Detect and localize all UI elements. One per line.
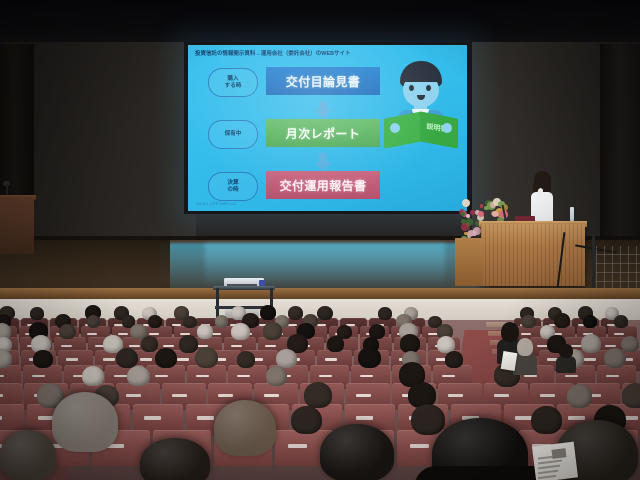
audience-head [583, 315, 597, 327]
audience-head [291, 406, 322, 434]
audience-head [82, 366, 104, 386]
flower-petal [484, 206, 488, 210]
audience-head [87, 315, 101, 327]
audience-head [276, 349, 297, 368]
flower-petal [473, 227, 481, 235]
seat-number-tag [237, 375, 250, 378]
audience-head [179, 335, 198, 353]
flower-petal [461, 212, 465, 216]
audience-head [317, 306, 333, 321]
staff-member-3-head [559, 344, 573, 358]
seat-number-tag [319, 375, 332, 378]
audience-head [141, 336, 159, 352]
seat-number-tag [540, 394, 555, 397]
seat-number-tag [565, 375, 578, 378]
audience-head [183, 316, 196, 328]
audience-head [554, 313, 570, 328]
seat-number-tag [172, 394, 187, 397]
audience-head [621, 336, 638, 352]
seat-number-tag [66, 358, 78, 360]
seat-number-tag [614, 333, 624, 335]
seat-number-tag [264, 394, 279, 397]
seat-number-tag [129, 345, 140, 347]
foreground-person-center-left [214, 400, 276, 456]
audience-head [445, 351, 463, 368]
slide-row-settlement: 決算 の時 交付運用報告書 [188, 169, 467, 203]
seat-number-tag [410, 444, 430, 448]
stage-curtain-right [600, 44, 640, 239]
stage-label-line2: の時 [227, 187, 238, 194]
seat-number-tag [197, 416, 214, 419]
foreground-person-shoulders [414, 466, 554, 480]
flower-petal [462, 199, 471, 208]
projected-slide: 投資信託の情報開示資料→運用会社（委託会社）のWEBサイト 購入 する時 交付目… [188, 45, 467, 211]
audience-head [581, 334, 602, 353]
seat-number-tag [606, 375, 619, 378]
seat-number-tag [231, 345, 242, 347]
audience-head [237, 351, 255, 368]
seat-number-tag [32, 375, 45, 378]
side-lectern [0, 198, 34, 254]
audience-head [195, 347, 218, 368]
seat-number-tag [140, 358, 152, 360]
slide-header: 投資信託の情報開示資料→運用会社（委託会社）のWEBサイト [195, 49, 445, 57]
audience-head [614, 315, 628, 328]
podium-side-cabinet [455, 238, 483, 286]
seat-number-tag [118, 333, 128, 335]
seat-number-tag [442, 375, 455, 378]
ceiling [0, 0, 640, 48]
auditorium-photo: 投資信託の情報開示資料→運用会社（委託会社）のWEBサイト 購入 する時 交付目… [0, 0, 640, 480]
seat-number-tag [126, 394, 141, 397]
audience-head [148, 315, 162, 328]
seat-number-tag [149, 333, 159, 335]
audience-head [378, 307, 392, 319]
audience-head [288, 306, 303, 320]
audience-head [567, 384, 593, 408]
stage-label-line1: 購入 [227, 76, 238, 83]
seat-number-tag [521, 333, 531, 335]
audience-head [231, 323, 250, 340]
audience-head [266, 366, 288, 386]
audience-head [604, 348, 626, 368]
audience-head [155, 348, 177, 368]
document-box-monthly-report: 月次レポート [266, 119, 380, 147]
seat-number-tag [568, 416, 585, 419]
staff-member-3 [556, 356, 576, 373]
audience-head [215, 315, 228, 327]
flower-petal [461, 223, 469, 231]
podium [481, 224, 585, 286]
audience-head [127, 366, 149, 387]
audience-head [327, 336, 344, 352]
seat-number-tag [325, 358, 337, 360]
seat-number-tag [103, 358, 115, 360]
audience-head [263, 322, 282, 340]
handout-thumbnail [552, 448, 567, 459]
flower-petal [464, 232, 468, 236]
audience-head [33, 350, 53, 368]
stage-label-line1: 保有中 [225, 131, 242, 138]
seat-number-tag [584, 358, 596, 360]
audience-head [358, 347, 381, 369]
document-box-operation-report: 交付運用報告書 [266, 171, 380, 199]
foreground-person-lower [140, 438, 210, 480]
seat-number-tag [0, 375, 4, 378]
seat-number-tag [605, 345, 616, 347]
stage-label-holding: 保有中 [208, 120, 258, 149]
foreground-person-center [320, 424, 394, 480]
seat-number-tag [177, 358, 189, 360]
audience-head [197, 324, 214, 339]
slide-logo: NIKKO LIFE MAP LLC [196, 202, 237, 206]
boy-reading-manual-icon: 説明書 [384, 61, 458, 147]
seat-number-tag [288, 444, 308, 448]
stage-label-purchase: 購入 する時 [208, 68, 258, 97]
audience-head [521, 315, 536, 328]
audience-head [304, 382, 333, 409]
seat-number-tag [114, 375, 127, 378]
seat-number-tag [356, 416, 373, 419]
seat-number-tag [0, 416, 2, 419]
seat-number-tag [196, 375, 209, 378]
staff-member-2-head [517, 338, 533, 356]
foreground-person-left [52, 392, 118, 452]
audience-head [437, 336, 455, 353]
seat-number-tag [494, 394, 509, 397]
seat-number-tag [163, 345, 174, 347]
audience-head [411, 404, 445, 435]
audience-head [260, 305, 276, 320]
audience-head [116, 348, 138, 369]
seat-number-tag [144, 416, 161, 419]
flower-petal [480, 204, 483, 207]
water-bottle [570, 207, 574, 221]
seat-number-tag [360, 375, 373, 378]
staff-handout [501, 351, 518, 371]
flower-petal [470, 210, 475, 215]
stage-label-settlement: 決算 の時 [208, 172, 258, 201]
seat-number-tag [265, 345, 276, 347]
audience-head [30, 307, 44, 320]
stage-label-line1: 決算 [227, 180, 238, 187]
staff-member-1-head [501, 322, 519, 342]
flower-petal [492, 211, 498, 217]
seat-number-tag [87, 333, 97, 335]
audience-head [622, 383, 640, 408]
seat-number-tag [218, 394, 233, 397]
audience-head [531, 406, 561, 434]
document-box-prospectus: 交付目論見書 [266, 67, 380, 95]
seat-number-tag [61, 345, 72, 347]
audience-head [59, 324, 76, 339]
seat-number-tag [0, 394, 3, 397]
seat-number-tag [356, 394, 371, 397]
seat-number-tag [155, 375, 168, 378]
foreground-person-edge [0, 430, 56, 480]
seat-number-tag [515, 416, 532, 419]
seat-number-tag [448, 394, 463, 397]
stage-label-line2: する時 [225, 83, 242, 90]
